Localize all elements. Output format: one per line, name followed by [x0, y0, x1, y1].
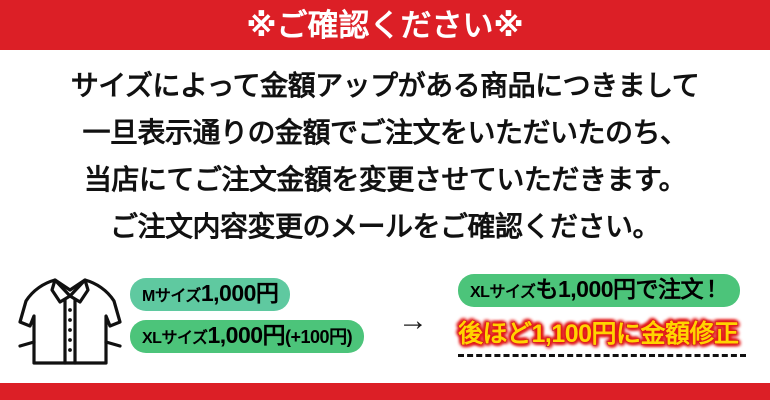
revised-price-note: 後ほど1,100円に金額修正	[458, 319, 768, 357]
revised-price-text: 後ほど1,100円に金額修正	[458, 319, 768, 349]
pill-size-label: XLサイズ	[470, 284, 535, 301]
notice-line-1: サイズによって金額アップがある商品につきまして	[0, 62, 770, 109]
notice-banner-image: ※ご確認ください※ サイズによって金額アップがある商品につきまして 一旦表示通り…	[0, 0, 770, 400]
notice-line-3: 当店にてご注文金額を変更させていただきます。	[0, 156, 770, 203]
pill-size-label: Mサイズ	[142, 288, 201, 305]
price-pill-xl-order: XLサイズも1,000円で注文！	[458, 274, 740, 307]
pill-exclamation: ！	[703, 277, 728, 302]
footer-bar	[0, 383, 770, 400]
dashed-underline	[458, 354, 746, 357]
arrow-right-icon: →	[398, 306, 428, 336]
price-pill-xl-size: XLサイズ1,000円(+100円)	[130, 320, 364, 353]
after-price-column: XLサイズも1,000円で注文！	[458, 274, 758, 316]
pill-size-label: XLサイズ	[142, 330, 207, 347]
notice-line-2: 一旦表示通りの金額でご注文をいただいたのち、	[0, 109, 770, 156]
pill-amount: 1,000円	[201, 280, 279, 306]
pill-amount-suffix: (+100円)	[285, 327, 352, 347]
price-pill-m-size: Mサイズ1,000円	[130, 278, 290, 311]
price-comparison-section: Mサイズ1,000円 XLサイズ1,000円(+100円) → XLサイズも1,…	[0, 262, 770, 382]
before-price-column: Mサイズ1,000円 XLサイズ1,000円(+100円)	[130, 278, 385, 362]
pill-amount: も1,000円で注文	[535, 276, 703, 302]
pill-amount: 1,000円	[207, 322, 285, 348]
shirt-icon	[14, 270, 126, 370]
notice-line-4: ご注文内容変更のメールをご確認ください。	[0, 203, 770, 250]
notice-text-block: サイズによって金額アップがある商品につきまして 一旦表示通りの金額でご注文をいた…	[0, 62, 770, 250]
header-banner: ※ご確認ください※	[0, 0, 770, 50]
header-banner-title: ※ご確認ください※	[246, 10, 523, 41]
